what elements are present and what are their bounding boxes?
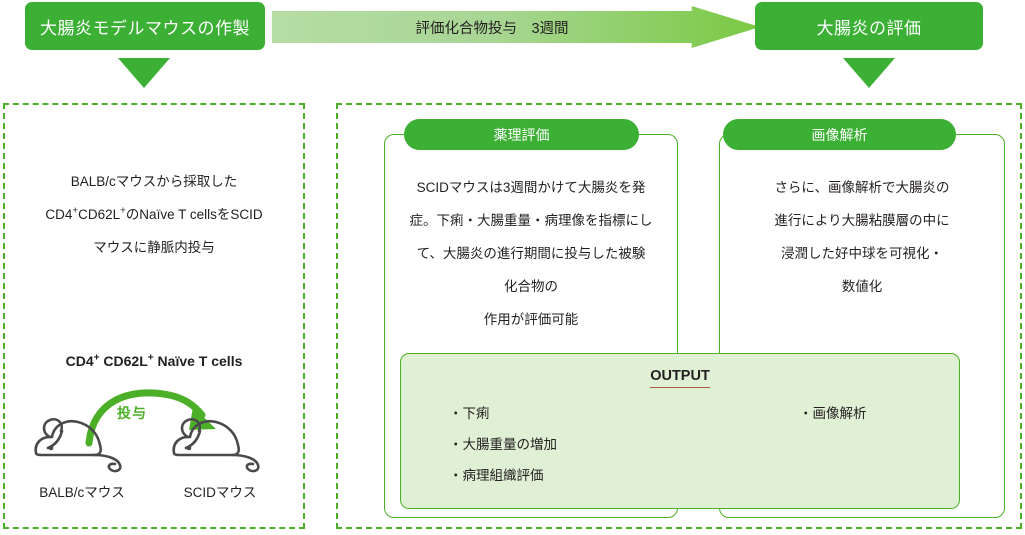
stage-box-model-creation[interactable]: 大腸炎モデルマウスの作製	[25, 2, 265, 50]
stage-box-model-creation-label: 大腸炎モデルマウスの作製	[40, 14, 250, 39]
output-title-label: OUTPUT	[650, 368, 710, 388]
mouse-icon	[166, 407, 274, 475]
mouse-caption-balbc: BALB/cマウス	[17, 481, 147, 501]
model-creation-description: BALB/cマウスから採取した CD4+CD62L+のNaïve T cells…	[5, 165, 303, 264]
card-image-analysis-title-label: 画像解析	[812, 125, 868, 145]
pharmacology-line-3: て、大腸炎の進行期間に投与した被験	[399, 237, 663, 270]
image-analysis-line-3: 浸潤した好中球を可視化・	[734, 237, 990, 270]
description-line-1: BALB/cマウスから採取した	[5, 165, 303, 198]
output-item: ・病理組織評価	[449, 460, 557, 491]
output-item: ・下痢	[449, 398, 557, 429]
stage-box-colitis-evaluation[interactable]: 大腸炎の評価	[755, 2, 983, 50]
pharmacology-line-1: SCIDマウスは3週間かけて大腸炎を発	[399, 171, 663, 204]
pharmacology-line-5: 作用が評価可能	[399, 303, 663, 336]
output-item: ・大腸重量の増加	[449, 429, 557, 460]
description-line-3: マウスに静脈内投与	[5, 231, 303, 264]
mouse-caption-scid: SCIDマウス	[155, 481, 285, 501]
output-item: ・画像解析	[799, 398, 867, 429]
card-pharmacology-title: 薬理評価	[404, 119, 639, 150]
description-line-2: CD4+CD62L+のNaïve T cellsをSCID	[5, 198, 303, 231]
triangle-down-icon-left	[118, 58, 170, 88]
image-analysis-line-2: 進行により大腸粘膜層の中に	[734, 204, 990, 237]
mouse-figure-scid: SCIDマウス	[155, 407, 285, 501]
process-arrow: 評価化合物投与 3週間	[272, 6, 760, 48]
process-arrow-label: 評価化合物投与 3週間	[272, 6, 760, 48]
card-pharmacology-title-label: 薬理評価	[494, 125, 550, 145]
output-list-right: ・画像解析	[799, 398, 867, 429]
mouse-icon	[28, 407, 136, 475]
pharmacology-line-4: 化合物の	[399, 270, 663, 303]
mouse-figure-balbc: BALB/cマウス	[17, 407, 147, 501]
image-analysis-line-1: さらに、画像解析で大腸炎の	[734, 171, 990, 204]
triangle-down-icon-right	[843, 58, 895, 88]
output-box: OUTPUT ・下痢 ・大腸重量の増加 ・病理組織評価 ・画像解析	[400, 353, 960, 509]
image-analysis-body: さらに、画像解析で大腸炎の 進行により大腸粘膜層の中に 浸潤した好中球を可視化・…	[720, 171, 1004, 303]
output-title: OUTPUT	[401, 368, 959, 384]
cell-type-title: CD4+ CD62L+ Naïve T cells	[5, 353, 303, 369]
pharmacology-line-2: 症。下痢・大腸重量・病理像を指標にし	[399, 204, 663, 237]
stage-box-colitis-evaluation-label: 大腸炎の評価	[817, 14, 922, 39]
output-list-left: ・下痢 ・大腸重量の増加 ・病理組織評価	[449, 398, 557, 491]
card-image-analysis-title: 画像解析	[723, 119, 956, 150]
panel-model-creation: BALB/cマウスから採取した CD4+CD62L+のNaïve T cells…	[3, 103, 305, 529]
mouse-transfer-illustration: 投与 BALB/cマウス	[5, 385, 303, 520]
pharmacology-body: SCIDマウスは3週間かけて大腸炎を発 症。下痢・大腸重量・病理像を指標にし て…	[385, 171, 677, 336]
image-analysis-line-4: 数値化	[734, 270, 990, 303]
process-header: 大腸炎モデルマウスの作製 評価化合物投与 3週間 大腸炎の評価	[0, 0, 1025, 52]
